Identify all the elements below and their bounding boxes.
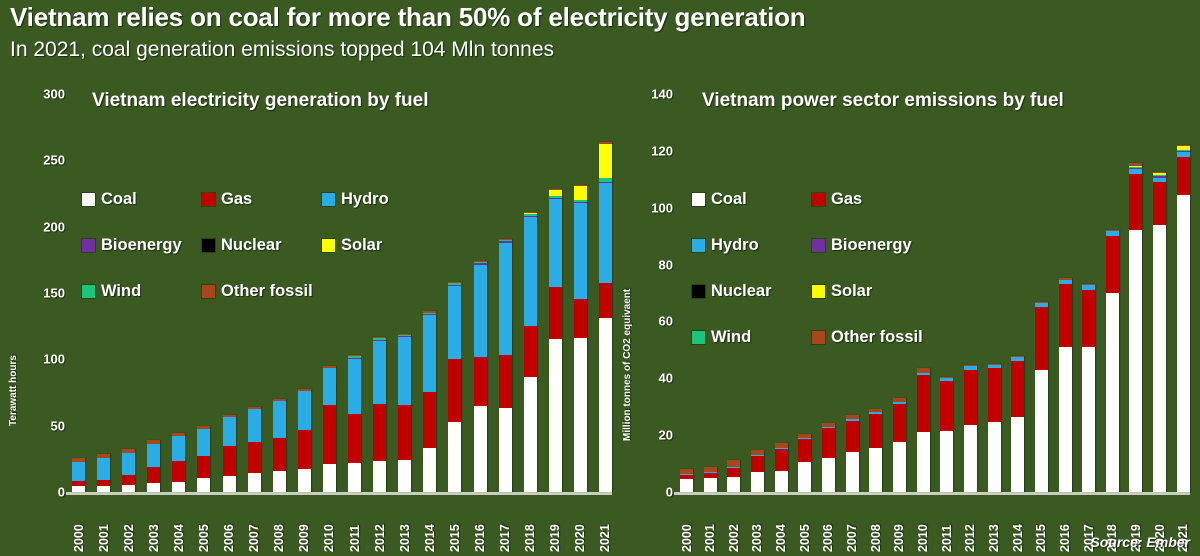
stacked-bar[interactable] — [964, 365, 977, 492]
x-axis-label-text: 2007 — [845, 497, 859, 552]
stacked-bar[interactable] — [248, 407, 261, 492]
legend-item-nuclear[interactable]: Nuclear — [692, 268, 812, 314]
bar-segment-coal — [751, 472, 764, 492]
bar-segment-coal — [1082, 347, 1095, 492]
stacked-bar[interactable] — [846, 415, 859, 492]
legend-swatch-icon — [692, 285, 705, 298]
bar-column[interactable] — [1059, 94, 1072, 492]
bar-segment-coal — [988, 422, 1001, 492]
bar-segment-gas — [988, 368, 1001, 422]
x-axis-label-text: 2002 — [727, 497, 741, 552]
stacked-bar[interactable] — [1082, 284, 1095, 492]
y-axis-tick-0: 0 — [58, 485, 72, 500]
stacked-bar[interactable] — [72, 458, 85, 492]
bar-column[interactable] — [1106, 94, 1119, 492]
x-axis-label: 2020 — [574, 492, 587, 552]
bar-segment-gas — [574, 299, 587, 338]
x-axis-label-text: 2020 — [573, 497, 587, 552]
bar-segment-gas — [373, 404, 386, 461]
bar-segment-coal — [680, 479, 693, 492]
bar-segment-gas — [599, 283, 612, 318]
bar-segment-coal — [499, 408, 512, 492]
x-axis-label: 2006 — [223, 492, 236, 552]
bar-segment-hydro — [474, 265, 487, 358]
x-axis-label: 2010 — [323, 492, 336, 552]
stacked-bar[interactable] — [172, 433, 185, 492]
legend-item-nuclear[interactable]: Nuclear — [202, 222, 322, 268]
bar-segment-hydro — [97, 458, 110, 481]
bar-segment-coal — [1129, 230, 1142, 492]
bar-segment-gas — [448, 359, 461, 421]
legend-item-gas[interactable]: Gas — [812, 176, 932, 222]
stacked-bar[interactable] — [524, 212, 537, 492]
bar-segment-coal — [549, 339, 562, 492]
legend-label: Gas — [831, 190, 862, 209]
bar-segment-hydro — [373, 341, 386, 404]
bar-segment-hydro — [72, 462, 85, 481]
stacked-bar[interactable] — [751, 450, 764, 492]
bar-segment-gas — [348, 414, 361, 464]
bar-segment-hydro — [323, 368, 336, 405]
x-axis-label-text: 2004 — [172, 497, 186, 552]
x-axis-label: 2013 — [988, 492, 1001, 552]
chart-panel-emissions: Vietnam power sector emissions by fuel M… — [620, 86, 1200, 554]
bar-segment-coal — [893, 442, 906, 492]
x-axis-label-text: 2009 — [892, 497, 906, 552]
x-axis-label-text: 2017 — [498, 497, 512, 552]
bar-segment-coal — [197, 478, 210, 492]
x-axis-label-text: 2013 — [398, 497, 412, 552]
x-axis-label-text: 2000 — [680, 497, 694, 552]
stacked-bar[interactable] — [599, 142, 612, 492]
y-axis-tick-60: 60 — [659, 314, 680, 329]
x-axis-label-text: 2012 — [373, 497, 387, 552]
x-axis-label-text: 2015 — [448, 497, 462, 552]
stacked-bar[interactable] — [988, 364, 1001, 492]
x-axis-label: 2012 — [964, 492, 977, 552]
x-axis-label-text: 2001 — [97, 497, 111, 552]
y-axis-tick-250: 250 — [43, 153, 72, 168]
x-axis-label: 2000 — [680, 492, 693, 552]
legend-item-coal[interactable]: Coal — [82, 176, 202, 222]
legend-label: Other fossil — [831, 328, 923, 347]
legend-label: Hydro — [341, 190, 389, 209]
bar-segment-gas — [197, 456, 210, 478]
x-axis-label-text: 2004 — [774, 497, 788, 552]
x-axis-label-text: 2021 — [598, 497, 612, 552]
y-axis-tick-200: 200 — [43, 219, 72, 234]
stacked-bar[interactable] — [398, 334, 411, 492]
legend-item-other-fossil[interactable]: Other fossil — [812, 314, 932, 360]
bar-segment-gas — [122, 475, 135, 485]
bar-segment-gas — [846, 421, 859, 452]
x-axis-label: 2016 — [474, 492, 487, 552]
x-axis-label: 2011 — [940, 492, 953, 552]
x-axis-label: 2013 — [398, 492, 411, 552]
bar-column[interactable] — [1129, 94, 1142, 492]
bar-segment-gas — [822, 428, 835, 458]
stacked-bar[interactable] — [197, 426, 210, 492]
bar-segment-coal — [273, 471, 286, 492]
legend-item-other-fossil[interactable]: Other fossil — [202, 268, 322, 314]
stacked-bar[interactable] — [147, 440, 160, 492]
header: Vietnam relies on coal for more than 50%… — [10, 2, 1190, 62]
legend-label: Hydro — [711, 236, 759, 255]
bar-segment-gas — [798, 439, 811, 462]
x-axis-label-text: 2010 — [322, 497, 336, 552]
x-axis-label: 2011 — [348, 492, 361, 552]
bar-segment-hydro — [524, 217, 537, 326]
y-axis-tick-150: 150 — [43, 286, 72, 301]
x-axis-label-text: 2010 — [916, 497, 930, 552]
bar-segment-coal — [917, 432, 930, 492]
bar-segment-hydro — [599, 183, 612, 283]
y-axis-tick-50: 50 — [51, 418, 72, 433]
x-axis-label: 2019 — [549, 492, 562, 552]
legend-swatch-icon — [692, 331, 705, 344]
x-axis-label-text: 2006 — [222, 497, 236, 552]
bar-segment-coal — [223, 476, 236, 492]
legend-swatch-icon — [82, 193, 95, 206]
x-axis-label: 2005 — [197, 492, 210, 552]
bar-column[interactable] — [1177, 94, 1190, 492]
legend-label: Other fossil — [221, 282, 313, 301]
stacked-bar[interactable] — [549, 189, 562, 492]
x-axis-label: 2005 — [798, 492, 811, 552]
bar-segment-coal — [574, 338, 587, 492]
bar-segment-coal — [373, 461, 386, 492]
x-axis-label: 2012 — [373, 492, 386, 552]
stacked-bar[interactable] — [1177, 145, 1190, 492]
bar-segment-gas — [964, 370, 977, 425]
legend-item-hydro[interactable]: Hydro — [322, 176, 442, 222]
legend-swatch-icon — [812, 239, 825, 252]
x-axis-label: 2008 — [869, 492, 882, 552]
x-axis-label: 2018 — [524, 492, 537, 552]
x-axis-label-text: 2003 — [147, 497, 161, 552]
bar-column[interactable] — [474, 94, 487, 492]
bar-segment-gas — [147, 467, 160, 483]
stacked-bar[interactable] — [574, 185, 587, 492]
x-axis-label: 2003 — [751, 492, 764, 552]
stacked-bar[interactable] — [423, 311, 436, 492]
legend-item-wind[interactable]: Wind — [82, 268, 202, 314]
x-axis-label-text: 2016 — [1058, 497, 1072, 552]
bar-segment-hydro — [197, 429, 210, 456]
x-axis-label-text: 2005 — [197, 497, 211, 552]
x-axis-label-text: 2007 — [247, 497, 261, 552]
stacked-bar[interactable] — [273, 399, 286, 492]
legend-item-bioenergy[interactable]: Bioenergy — [82, 222, 202, 268]
bar-segment-coal — [147, 483, 160, 492]
bar-segment-hydro — [448, 286, 461, 360]
bar-segment-solar — [549, 190, 562, 197]
bar-segment-gas — [1011, 361, 1024, 416]
x-axis-label: 2009 — [298, 492, 311, 552]
bar-segment-coal — [1035, 370, 1048, 492]
bar-segment-gas — [1059, 284, 1072, 347]
y-axis-tick-100: 100 — [651, 200, 680, 215]
bar-segment-coal — [348, 463, 361, 492]
stacked-bar[interactable] — [1153, 172, 1166, 492]
bar-segment-hydro — [147, 444, 160, 467]
bar-segment-hydro — [398, 337, 411, 405]
bar-segment-hydro — [574, 203, 587, 299]
legend-swatch-icon — [202, 285, 215, 298]
stacked-bar[interactable] — [223, 415, 236, 492]
bar-segment-gas — [1082, 290, 1095, 347]
stacked-bar[interactable] — [323, 366, 336, 492]
bar-segment-hydro — [348, 359, 361, 414]
x-axis-label-text: 2001 — [703, 497, 717, 552]
x-axis-label: 2004 — [172, 492, 185, 552]
bar-segment-gas — [499, 355, 512, 408]
stacked-bar[interactable] — [348, 355, 361, 492]
bar-segment-gas — [248, 442, 261, 473]
source-note: Source: Ember — [1090, 534, 1190, 550]
bar-column[interactable] — [599, 94, 612, 492]
legend-label: Solar — [341, 236, 382, 255]
legend-label: Wind — [711, 328, 751, 347]
x-axis-label: 2001 — [97, 492, 110, 552]
legend-generation: CoalGasHydroBioenergyNuclearSolarWindOth… — [82, 176, 442, 314]
bar-segment-coal — [323, 464, 336, 492]
bar-column[interactable] — [499, 94, 512, 492]
legend-swatch-icon — [322, 239, 335, 252]
x-axis-label: 2007 — [248, 492, 261, 552]
legend-label: Coal — [711, 190, 747, 209]
x-axis-label-text: 2005 — [798, 497, 812, 552]
bar-segment-gas — [1177, 157, 1190, 195]
y-axis-tick-140: 140 — [651, 87, 680, 102]
bar-segment-gas — [398, 405, 411, 459]
legend-swatch-icon — [202, 193, 215, 206]
legend-item-coal[interactable]: Coal — [692, 176, 812, 222]
bar-column[interactable] — [549, 94, 562, 492]
x-axis-label: 2014 — [423, 492, 436, 552]
stacked-bar[interactable] — [474, 261, 487, 492]
stacked-bar[interactable] — [775, 443, 788, 492]
legend-label: Nuclear — [221, 236, 282, 255]
bar-segment-gas — [1129, 174, 1142, 231]
legend-item-gas[interactable]: Gas — [202, 176, 322, 222]
bar-segment-gas — [940, 381, 953, 431]
x-axis-label: 2021 — [599, 492, 612, 552]
stacked-bar[interactable] — [97, 454, 110, 492]
x-axis-label-text: 2015 — [1034, 497, 1048, 552]
stacked-bar[interactable] — [798, 434, 811, 492]
x-axis-label-text: 2006 — [821, 497, 835, 552]
bar-column[interactable] — [574, 94, 587, 492]
chart-panel-generation: Vietnam electricity generation by fuel T… — [0, 86, 620, 554]
stacked-bar[interactable] — [122, 449, 135, 492]
bar-segment-hydro — [298, 391, 311, 430]
x-axis-label-text: 2014 — [1011, 497, 1025, 552]
bar-segment-solar — [574, 186, 587, 200]
bar-segment-coal — [122, 485, 135, 492]
x-axis-label-text: 2002 — [122, 497, 136, 552]
bar-segment-hydro — [499, 243, 512, 355]
legend-swatch-icon — [82, 239, 95, 252]
bar-segment-gas — [223, 446, 236, 477]
bar-segment-coal — [1177, 195, 1190, 492]
bar-segment-gas — [917, 375, 930, 432]
stacked-bar[interactable] — [298, 389, 311, 492]
legend-emissions: CoalGasHydroBioenergyNuclearSolarWindOth… — [692, 176, 1042, 360]
bar-segment-coal — [964, 425, 977, 492]
legend-label: Coal — [101, 190, 137, 209]
bar-segment-coal — [869, 448, 882, 492]
stacked-bar[interactable] — [680, 469, 693, 492]
stacked-bar[interactable] — [893, 398, 906, 492]
legend-label: Nuclear — [711, 282, 772, 301]
legend-swatch-icon — [812, 193, 825, 206]
x-axis-label-text: 2003 — [750, 497, 764, 552]
legend-label: Gas — [221, 190, 252, 209]
x-axis-label: 2007 — [846, 492, 859, 552]
legend-swatch-icon — [692, 193, 705, 206]
bar-segment-coal — [398, 460, 411, 493]
stacked-bar[interactable] — [1011, 356, 1024, 492]
stacked-bar[interactable] — [704, 467, 717, 492]
legend-swatch-icon — [202, 239, 215, 252]
legend-item-wind[interactable]: Wind — [692, 314, 812, 360]
bar-segment-hydro — [423, 315, 436, 392]
x-axis-labels: 2000200120022003200420052006200720082009… — [72, 492, 612, 552]
bar-segment-gas — [1106, 236, 1119, 293]
x-axis-label: 2009 — [893, 492, 906, 552]
bar-segment-gas — [298, 430, 311, 469]
y-axis-tick-100: 100 — [43, 352, 72, 367]
bar-segment-coal — [248, 473, 261, 492]
bar-segment-coal — [599, 318, 612, 492]
bar-segment-coal — [448, 422, 461, 492]
bar-column[interactable] — [1082, 94, 1095, 492]
x-axis-label: 2015 — [1035, 492, 1048, 552]
bar-segment-gas — [1153, 182, 1166, 225]
stacked-bar[interactable] — [373, 337, 386, 492]
y-axis-tick-80: 80 — [659, 257, 680, 272]
stacked-bar[interactable] — [1059, 278, 1072, 492]
legend-swatch-icon — [692, 239, 705, 252]
stacked-bar[interactable] — [499, 239, 512, 492]
stacked-bar[interactable] — [727, 460, 740, 492]
legend-item-solar[interactable]: Solar — [812, 268, 932, 314]
bar-segment-hydro — [122, 453, 135, 475]
stacked-bar[interactable] — [917, 368, 930, 492]
bar-segment-coal — [1011, 417, 1024, 492]
bar-segment-gas — [869, 414, 882, 448]
x-axis-label: 2002 — [122, 492, 135, 552]
bar-segment-hydro — [273, 401, 286, 437]
bar-segment-hydro — [248, 409, 261, 442]
y-axis-tick-120: 120 — [651, 143, 680, 158]
bar-segment-coal — [775, 471, 788, 492]
x-axis-label: 2002 — [727, 492, 740, 552]
bar-segment-gas — [323, 405, 336, 464]
bar-segment-gas — [273, 438, 286, 472]
x-axis-label-text: 2012 — [963, 497, 977, 552]
bar-segment-coal — [474, 406, 487, 492]
x-axis-label: 2017 — [499, 492, 512, 552]
stacked-bar[interactable] — [869, 409, 882, 492]
bar-segment-gas — [524, 326, 537, 377]
bar-segment-coal — [172, 482, 185, 492]
y-axis-tick-300: 300 — [43, 87, 72, 102]
bar-segment-gas — [423, 392, 436, 448]
bar-segment-gas — [751, 456, 764, 472]
bar-segment-coal — [423, 448, 436, 492]
stacked-bar[interactable] — [822, 423, 835, 492]
bar-column[interactable] — [524, 94, 537, 492]
bar-column[interactable] — [1153, 94, 1166, 492]
bar-segment-coal — [1059, 347, 1072, 492]
x-axis-label-text: 2000 — [72, 497, 86, 552]
y-axis-title-generation: Terawatt hours — [8, 266, 19, 426]
x-axis-label-text: 2011 — [940, 497, 954, 552]
x-axis-label-text: 2019 — [548, 497, 562, 552]
bar-segment-hydro — [549, 199, 562, 287]
bar-segment-solar — [599, 144, 612, 178]
page-title: Vietnam relies on coal for more than 50%… — [10, 2, 1190, 33]
x-axis-label-text: 2018 — [523, 497, 537, 552]
legend-swatch-icon — [812, 285, 825, 298]
legend-item-hydro[interactable]: Hydro — [692, 222, 812, 268]
bar-segment-coal — [298, 469, 311, 492]
x-axis-label-text: 2009 — [297, 497, 311, 552]
x-axis-label: 2006 — [822, 492, 835, 552]
bar-segment-coal — [704, 478, 717, 492]
bar-segment-coal — [822, 458, 835, 492]
legend-label: Wind — [101, 282, 141, 301]
bar-segment-gas — [549, 287, 562, 339]
x-axis-label-text: 2013 — [987, 497, 1001, 552]
y-axis-tick-20: 20 — [659, 428, 680, 443]
bar-segment-coal — [798, 462, 811, 492]
bar-segment-coal — [1106, 293, 1119, 492]
legend-swatch-icon — [82, 285, 95, 298]
y-axis-title-emissions: Million tonnes of CO2 equivaent — [622, 211, 633, 441]
bar-segment-coal — [1153, 225, 1166, 492]
x-axis-label: 2004 — [775, 492, 788, 552]
x-axis-label: 2014 — [1011, 492, 1024, 552]
bar-segment-coal — [940, 431, 953, 492]
bar-segment-gas — [727, 468, 740, 477]
x-axis-label-text: 2014 — [423, 497, 437, 552]
bar-segment-gas — [172, 461, 185, 482]
legend-item-bioenergy[interactable]: Bioenergy — [812, 222, 932, 268]
stacked-bar[interactable] — [1129, 163, 1142, 492]
x-axis-label: 2001 — [704, 492, 717, 552]
stacked-bar[interactable] — [1106, 230, 1119, 492]
x-axis-label-text: 2008 — [272, 497, 286, 552]
legend-item-solar[interactable]: Solar — [322, 222, 442, 268]
stacked-bar[interactable] — [940, 377, 953, 492]
legend-swatch-icon — [812, 331, 825, 344]
bar-column[interactable] — [448, 94, 461, 492]
legend-label: Bioenergy — [101, 236, 182, 255]
bar-segment-gas — [775, 449, 788, 470]
bar-segment-gas — [474, 357, 487, 406]
y-axis-tick-40: 40 — [659, 371, 680, 386]
x-axis-label: 2015 — [448, 492, 461, 552]
stacked-bar[interactable] — [448, 282, 461, 492]
x-axis-label: 2003 — [147, 492, 160, 552]
x-axis-label: 2000 — [72, 492, 85, 552]
bar-segment-gas — [893, 404, 906, 442]
x-axis-label-text: 2008 — [869, 497, 883, 552]
x-axis-label: 2008 — [273, 492, 286, 552]
